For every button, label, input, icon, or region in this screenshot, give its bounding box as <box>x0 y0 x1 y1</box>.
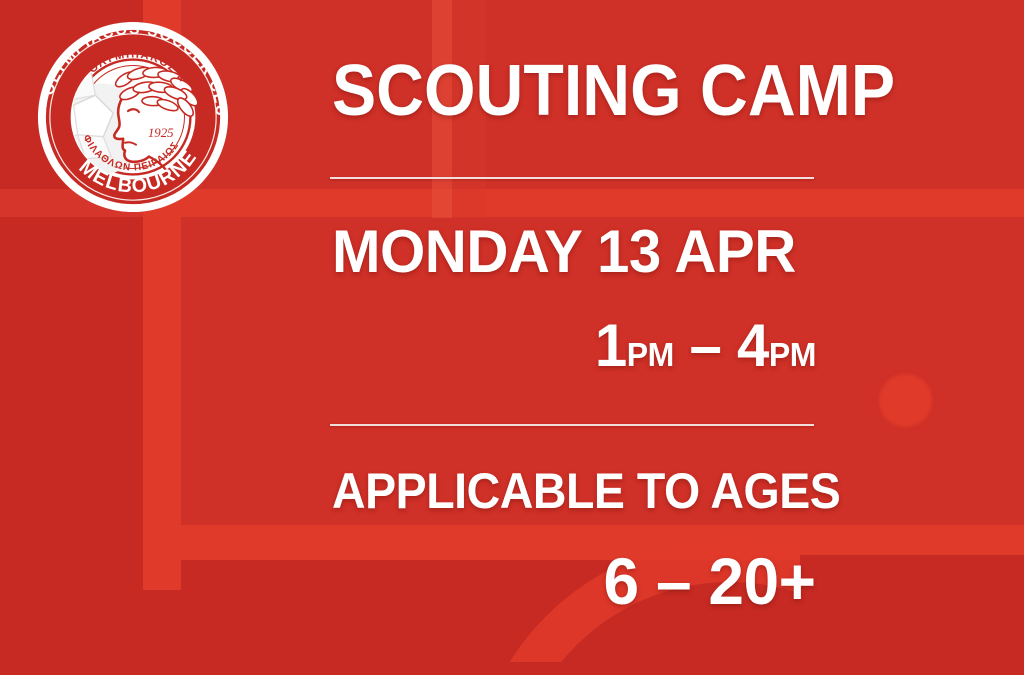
ages-range: 6 – 20+ <box>604 548 816 614</box>
divider-bottom <box>330 424 814 426</box>
page-title: SCOUTING CAMP <box>332 55 895 127</box>
poster-text-column: SCOUTING CAMP MONDAY 13 APR 1PM – 4PM AP… <box>318 0 818 675</box>
event-date: MONDAY 13 APR <box>332 222 796 282</box>
background-bottom-left-block <box>0 560 143 675</box>
time-start-meridiem: PM <box>627 336 674 373</box>
ages-label: APPLICABLE TO AGES <box>332 466 840 516</box>
event-time: 1PM – 4PM <box>595 316 816 376</box>
background-circle-accent <box>879 374 932 427</box>
crest-founded-year: 1925 <box>148 126 174 140</box>
time-start-number: 1 <box>595 312 627 379</box>
divider-top <box>330 177 814 179</box>
time-end-number: 4 <box>737 312 769 379</box>
time-dash: – <box>689 312 721 379</box>
background-arc-right-mask <box>800 555 1024 675</box>
time-end-meridiem: PM <box>769 336 816 373</box>
olympiacos-melbourne-crest-icon: 1925 ΟΛΥΜΠΙΑΚΟΣ Σ ΦΙΛΑΘΛΩΝ ΠΕΙΡΑΙΩΣ OLYM… <box>34 18 232 216</box>
scouting-camp-poster: 1925 ΟΛΥΜΠΙΑΚΟΣ Σ ΦΙΛΑΘΛΩΝ ΠΕΙΡΑΙΩΣ OLYM… <box>0 0 1024 675</box>
